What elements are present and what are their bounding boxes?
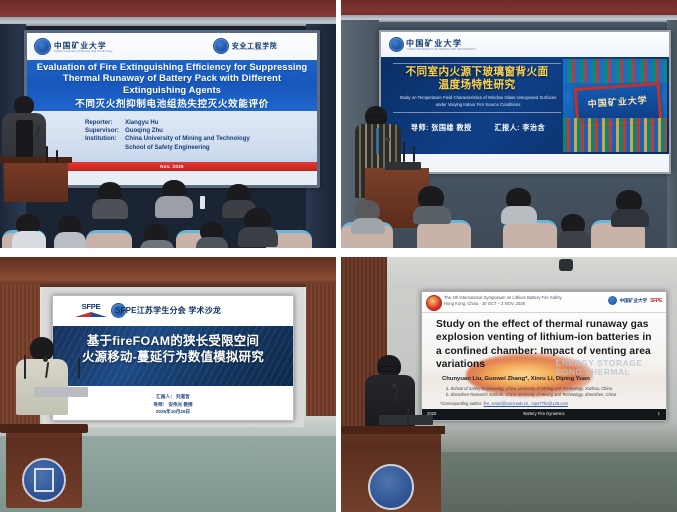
seat bbox=[86, 230, 132, 248]
ceiling-soffit bbox=[385, 257, 677, 291]
photo-panel-top-left: 中国矿业大学 China University of Mining and Te… bbox=[0, 0, 336, 248]
sfpe-logo-icon: SFPE bbox=[75, 302, 107, 320]
projection-screen: ENERGY STORAGE SONG THERMAL The 4th Inte… bbox=[421, 291, 667, 421]
audience-shoulders bbox=[501, 206, 537, 224]
gate-plaque-photo: 中国矿业大学 bbox=[563, 59, 667, 152]
audience-row-mid bbox=[0, 212, 336, 248]
sfpe-logo-label: SFPE bbox=[650, 298, 662, 304]
slide-presenter: 汇报人： 刘道哲 bbox=[53, 393, 293, 401]
slide-corresponding-author: *Corresponding author: fire_smart@cumt.e… bbox=[440, 401, 656, 406]
corresponding-email-link[interactable]: fire_smart@cumt.edu.cn , cqm77hz@126.com bbox=[483, 401, 568, 406]
slide-subtitle-en-line2: under Varying Indoor Fire Source Conditi… bbox=[387, 102, 569, 108]
meta-value: Xiangyu Hu bbox=[125, 119, 159, 126]
photo-panel-top-right: 中国矿业大学 CHINA UNIVERSITY OF MINING AND TE… bbox=[341, 0, 677, 248]
ornament-upper bbox=[563, 59, 667, 83]
slide-title-line1: 基于fireFOAM的狭长受限空间 bbox=[57, 333, 289, 349]
slide-footer-bar: 2025 Battery Fire Dynamics 1 bbox=[422, 409, 666, 420]
ceiling-beam bbox=[341, 0, 677, 22]
laptop bbox=[34, 387, 88, 397]
ceiling-beam bbox=[0, 0, 336, 26]
slide-title: Study on the effect of thermal runaway g… bbox=[436, 318, 652, 372]
cumt-logo-icon bbox=[34, 38, 51, 55]
photo-panel-bottom-left: SFPE SFPE江苏学生分会 学术沙龙 基于fireFOAM的狭长受限空间 火… bbox=[0, 257, 336, 512]
meta-label: Supervisor: bbox=[85, 127, 125, 135]
presentation-slide: ENERGY STORAGE SONG THERMAL The 4th Inte… bbox=[422, 292, 666, 420]
ceiling-spotlight-icon bbox=[559, 259, 573, 271]
audience-row bbox=[341, 192, 677, 248]
cumt-logo-icon bbox=[389, 37, 404, 52]
audience-shoulders bbox=[12, 231, 46, 248]
audience-member bbox=[238, 208, 278, 242]
gooseneck-microphone bbox=[407, 407, 409, 425]
slide-title: 基于fireFOAM的狭长受限空间 火源移动-蔓延行为数值模拟研究 bbox=[57, 333, 289, 365]
symposium-line2: Hong Kong, China · 30 OCT – 2 NOV, 2025 bbox=[444, 301, 562, 307]
meta-row: School of Safety Engineering bbox=[85, 144, 250, 152]
slide-authors: Chunyuan Liu, Guowei Zhang*, Xinru Li, D… bbox=[442, 376, 656, 382]
ceiling-beam bbox=[0, 257, 336, 287]
slide-header-logos: 中国矿业大学 SFPE bbox=[608, 296, 662, 305]
podium-top bbox=[0, 424, 88, 433]
seat bbox=[503, 220, 557, 248]
plaque-text: 中国矿业大学 bbox=[577, 85, 659, 119]
podium-top bbox=[341, 426, 445, 434]
projection-screen: 中国矿业大学 China University of Mining and Te… bbox=[24, 30, 320, 188]
slide-header-text: SFPE江苏学生分会 学术沙龙 bbox=[115, 305, 221, 316]
ornament-lower bbox=[563, 118, 667, 152]
slide-body: 中国矿业大学 不同室内火源下玻璃窗背火面 温度场特性研究 Study on Te… bbox=[381, 57, 669, 154]
laptop bbox=[379, 415, 433, 425]
photo-collage: 中国矿业大学 China University of Mining and Te… bbox=[0, 0, 677, 512]
symposium-seal-icon bbox=[426, 295, 442, 311]
cumt-logo-icon bbox=[608, 296, 617, 305]
slide-title-cn-line2: 温度场特性研究 bbox=[389, 79, 565, 92]
slide-meta-block: Reporter:Xiangyu Hu Supervisor:Guoqing Z… bbox=[85, 119, 250, 152]
meta-row: Institution:China University of Mining a… bbox=[85, 135, 250, 143]
audience-shoulders bbox=[54, 232, 86, 248]
audience-shoulders bbox=[238, 227, 278, 247]
slide-affiliations: a. School of Safety Engineering, China U… bbox=[446, 386, 656, 399]
audience-member bbox=[501, 188, 537, 224]
sfpe-logo-mark bbox=[75, 312, 107, 317]
speaker-glasses-icon bbox=[367, 116, 387, 122]
presentation-slide: 中国矿业大学 CHINA UNIVERSITY OF MINING AND TE… bbox=[381, 32, 669, 172]
audience-row-front bbox=[0, 182, 336, 216]
slide-title-cn: 不同室内火源下玻璃窗背火面 温度场特性研究 bbox=[389, 66, 565, 92]
cumt-logo-sublabel: CHINA UNIVERSITY OF MINING AND TECHNOLOG… bbox=[407, 48, 476, 51]
affiliation-b: b. Shenzhen Research Institute, China Un… bbox=[446, 392, 656, 398]
photo-panel-bottom-right: ENERGY STORAGE SONG THERMAL The 4th Inte… bbox=[341, 257, 677, 512]
microphone-head-icon bbox=[385, 137, 390, 142]
speaker-head bbox=[30, 337, 54, 361]
audience-shoulders bbox=[413, 206, 451, 224]
audience-shoulders bbox=[351, 218, 385, 234]
cumt-logo-label: 中国矿业大学 bbox=[620, 298, 648, 304]
audience-member bbox=[12, 214, 46, 244]
gooseneck-microphone bbox=[403, 142, 405, 162]
university-seal-icon bbox=[368, 464, 414, 510]
gooseneck-microphone bbox=[24, 355, 26, 379]
microphone-head-icon bbox=[33, 121, 38, 126]
projection-screen: SFPE SFPE江苏学生分会 学术沙龙 基于fireFOAM的狭长受限空间 火… bbox=[52, 295, 294, 421]
audience-member bbox=[196, 222, 228, 248]
slide-title-line2: 火源移动-蔓延行为数值模拟研究 bbox=[57, 349, 289, 365]
audience-member bbox=[54, 216, 86, 244]
laptop bbox=[385, 162, 421, 170]
audience-member bbox=[557, 214, 591, 248]
symposium-header-text: The 4th International Symposium on Lithi… bbox=[444, 295, 562, 307]
audience-member bbox=[155, 180, 193, 216]
speaker-glasses-icon bbox=[379, 366, 400, 372]
audience-member bbox=[413, 186, 451, 224]
audience-shoulders bbox=[557, 231, 591, 248]
slide-meta-block: 汇报人： 刘道哲 导师： 安伟光 教授 2025年10月26日 bbox=[53, 393, 293, 416]
meta-label: Institution: bbox=[85, 135, 125, 143]
audience-shoulders bbox=[196, 237, 228, 248]
university-seal-icon bbox=[22, 458, 66, 502]
meta-value: School of Safety Engineering bbox=[125, 144, 210, 151]
seat bbox=[417, 220, 471, 248]
cumt-logo-sublabel: China University of Mining and Technolog… bbox=[54, 49, 113, 53]
audience-member bbox=[611, 190, 649, 228]
audience-member bbox=[140, 224, 174, 248]
gooseneck-microphone bbox=[46, 146, 48, 162]
slide-credits: 导师: 张国雄 教授 汇报人: 李治含 bbox=[387, 123, 569, 133]
gooseneck-microphone bbox=[56, 150, 58, 162]
footer-page-number: 1 bbox=[658, 411, 660, 416]
podium bbox=[341, 426, 441, 512]
slide-title-cn: 不同灭火剂抑制电池组热失控灭火效能评价 bbox=[35, 96, 309, 110]
meta-row: Supervisor:Guoqing Zhu bbox=[85, 127, 250, 135]
meta-value: China University of Mining and Technolog… bbox=[125, 135, 250, 142]
sse-logo-icon bbox=[213, 38, 229, 54]
sfpe-logo-label: SFPE bbox=[75, 302, 107, 311]
speaker-lanyard bbox=[376, 128, 379, 154]
slide-presenter: 汇报人: 李治含 bbox=[494, 123, 545, 132]
gooseneck-microphone bbox=[413, 146, 415, 162]
slide-advisor: 导师： 安伟光 教授 bbox=[53, 401, 293, 409]
meta-value: Guoqing Zhu bbox=[125, 127, 163, 134]
slide-title-cn-line1: 不同室内火源下玻璃窗背火面 bbox=[389, 66, 565, 79]
water-bottle bbox=[200, 196, 205, 209]
audience-shoulders bbox=[140, 240, 174, 248]
audience-member bbox=[351, 200, 385, 232]
title-rule-bottom bbox=[393, 112, 561, 113]
slide-date: 2025年10月26日 bbox=[53, 408, 293, 416]
gooseneck-microphone bbox=[78, 357, 80, 379]
presentation-slide: SFPE SFPE江苏学生分会 学术沙龙 基于fireFOAM的狭长受限空间 火… bbox=[53, 296, 293, 420]
audience-shoulders bbox=[611, 209, 649, 227]
title-rule-top bbox=[393, 63, 561, 64]
projection-screen: 中国矿业大学 CHINA UNIVERSITY OF MINING AND TE… bbox=[379, 30, 671, 174]
slide-date-text: Nov. 2025 bbox=[27, 162, 317, 171]
slide-title-en: Evaluation of Fire Extinguishing Efficie… bbox=[35, 61, 309, 95]
slide-advisor: 导师: 张国雄 教授 bbox=[411, 123, 472, 132]
slide-subtitle-en-line1: Study on Temperature Field Characteristi… bbox=[387, 95, 569, 101]
meta-label: Reporter: bbox=[85, 119, 125, 127]
corresponding-label: *Corresponding author: bbox=[440, 401, 482, 406]
meta-row: Reporter:Xiangyu Hu bbox=[85, 119, 250, 127]
podium bbox=[6, 424, 82, 508]
podium-top bbox=[0, 157, 72, 163]
right-wood-panel bbox=[306, 283, 336, 416]
footer-center: Battery Fire Dynamics bbox=[523, 411, 564, 416]
audience-member bbox=[92, 182, 128, 216]
sse-logo-sublabel: School of Safety Engineering bbox=[232, 48, 267, 51]
